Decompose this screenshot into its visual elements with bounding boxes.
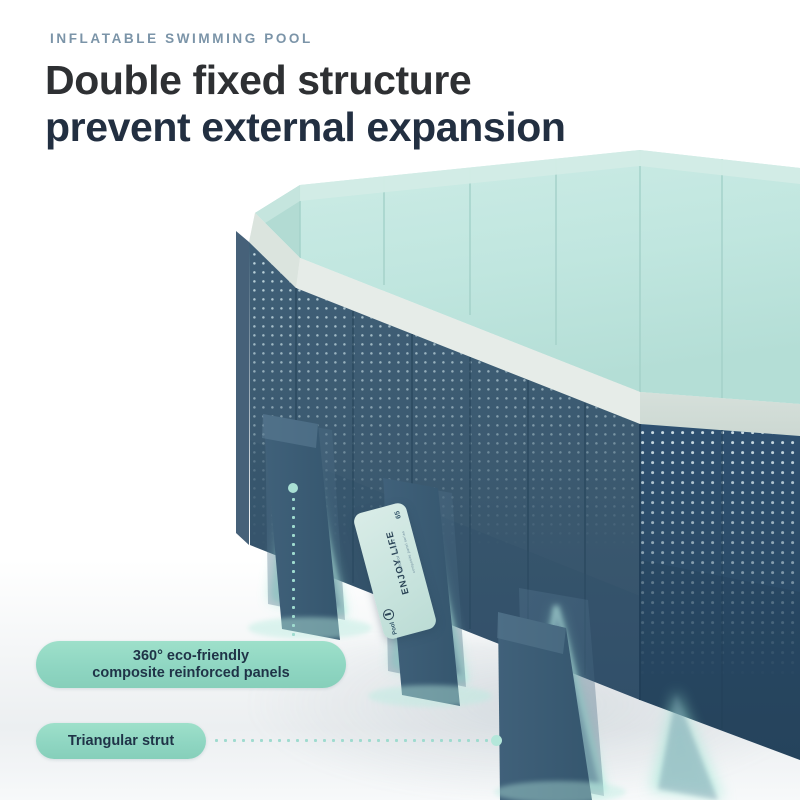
product-feature-image: ENJOY LIFE Outdoor Leisure composite pan… — [0, 0, 800, 800]
product-tag-code: Pool — [390, 621, 399, 635]
callout-pill-panels-line2: composite reinforced panels — [92, 665, 289, 681]
callout-pill-strut[interactable]: Triangular strut — [36, 723, 206, 759]
pool-outer-wall-right — [640, 424, 800, 760]
triangular-strut-1 — [262, 414, 345, 640]
headline-line-1: Double fixed structure — [45, 57, 765, 104]
headline-line-2: prevent external expansion — [45, 104, 765, 151]
strut-ground-glow-1 — [248, 617, 372, 639]
callout-pill-panels-line1: 360° eco-friendly — [133, 648, 249, 664]
page-title: Double fixed structure prevent external … — [45, 57, 765, 151]
callout-anchor-dot-strut — [491, 735, 502, 746]
callout-pill-strut-label: Triangular strut — [68, 733, 174, 749]
callout-leader-line-panels — [292, 495, 295, 645]
callout-anchor-dot-panels — [288, 483, 298, 493]
circle-leaf-icon — [382, 608, 395, 621]
callout-pill-panels[interactable]: 360° eco-friendly composite reinforced p… — [36, 641, 346, 688]
eyebrow-label: INFLATABLE SWIMMING POOL — [50, 31, 313, 46]
strut-ground-glow-2 — [368, 685, 492, 707]
callout-leader-line-strut — [212, 739, 490, 742]
triangular-strut-3 — [497, 588, 604, 800]
callout-pill-panels-label: 360° eco-friendly composite reinforced p… — [92, 648, 289, 682]
